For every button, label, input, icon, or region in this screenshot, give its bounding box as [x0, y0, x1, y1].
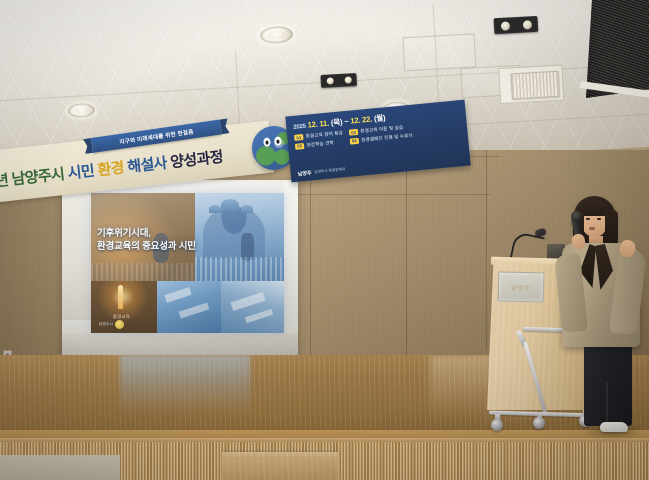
- slide-title: 기후위기시대, 환경교육의 중요성과 시민: [97, 227, 232, 254]
- organizer-name: 남양주시 환경정책과: [314, 167, 345, 175]
- banner-text-part-4: 해설사: [127, 155, 168, 176]
- projection-screen: 환경교육 기후위기시대, 환경교육의 중요성과 시민 남양주시: [62, 180, 298, 355]
- schedule-item: 02 현장학습 견학: [295, 139, 344, 150]
- schedule-item-text: 환경캠페인 진행 및 수료식: [361, 133, 413, 144]
- caster-wheel: [491, 419, 503, 431]
- schedule-date-end-day: (월): [374, 113, 386, 123]
- schedule-item-text: 현장학습 견학: [306, 140, 334, 149]
- schedule-year: 2025: [293, 124, 306, 131]
- schedule-banner-footer: 남양주 남양주시 환경정책과: [297, 166, 345, 177]
- globe-eye-left: [263, 137, 271, 147]
- ice-shard: [179, 303, 210, 319]
- lectern-plaque: 남양주: [498, 271, 545, 302]
- slide-title-line-2: 환경교육의 중요성과 시민: [97, 240, 232, 253]
- ice-shard: [245, 309, 273, 323]
- presenter-eye-left: [586, 218, 590, 220]
- slide-image-glacier: [157, 281, 221, 333]
- water-texture: [91, 263, 195, 281]
- slide-image-iceberg: [221, 281, 284, 333]
- wooden-step-box: [222, 452, 338, 480]
- apron-top-rail: [0, 438, 649, 442]
- banner-text-part-1: 5년 남양주시: [0, 166, 65, 191]
- presentation-slide: 환경교육 기후위기시대, 환경교육의 중요성과 시민 남양주시: [91, 193, 284, 333]
- schedule-item-number: 03: [349, 129, 359, 136]
- ice-shard: [230, 292, 265, 311]
- step-box-grain: [222, 452, 338, 480]
- banner-text-part-3: 환경: [97, 159, 125, 179]
- microphone-capsule: [571, 211, 582, 222]
- lecture-hall-photo: 환경교육 기후위기시대, 환경교육의 중요성과 시민 남양주시 지구와: [0, 0, 649, 480]
- schedule-column-right: 03 환경교재 이론 및 실습 04 환경캠페인 진행 및 수료식: [349, 124, 413, 145]
- air-supply-grille: [511, 71, 560, 100]
- ceiling-access-hatch: [402, 33, 476, 71]
- logo-bug-icon: [115, 320, 124, 329]
- double-spotlight-icon: [320, 73, 357, 88]
- banner-text-part-2: 시민: [67, 163, 95, 183]
- presenter-mouth: [589, 227, 595, 230]
- caster-wheel: [533, 417, 545, 429]
- presenter: [556, 196, 646, 436]
- flame-column: [118, 285, 123, 309]
- schedule-date-tilde: ~: [344, 117, 349, 126]
- banner-text-part-5: 양성과정: [169, 149, 223, 172]
- basilica-dome: [241, 205, 253, 213]
- schedule-date-start: 12. 11.: [307, 119, 329, 130]
- basilica-dome: [221, 199, 239, 211]
- screen-left-margin: [62, 180, 91, 320]
- globe-eye-right: [274, 136, 282, 146]
- schedule-date-end: 12. 22.: [350, 114, 373, 125]
- screen-reflection: [120, 355, 250, 415]
- slide-title-line-1: 기후위기시대,: [97, 227, 232, 240]
- basilica-dome: [209, 205, 221, 213]
- screen-right-margin: [284, 180, 298, 355]
- presenter-trousers: [584, 342, 632, 426]
- presenter-eye-right: [597, 218, 601, 220]
- schedule-column-left: 01 환경교육 참여 특강 02 현장학습 견학: [294, 130, 344, 149]
- audience-floor: [0, 455, 120, 480]
- presenter-shoe: [600, 422, 628, 432]
- schedule-date-start-day: (목): [330, 117, 342, 127]
- screen-bottom-margin: [62, 333, 298, 355]
- organizer-mark: 남양주: [297, 169, 311, 177]
- presenter-leg-seam: [606, 382, 608, 426]
- slide-logo: 남양주시: [99, 320, 124, 329]
- schedule-item-number: 01: [294, 134, 304, 141]
- schedule-item-number: 02: [295, 143, 305, 150]
- double-spotlight-icon: [494, 16, 539, 34]
- schedule-item-number: 04: [349, 138, 359, 145]
- ice-shard: [164, 287, 191, 303]
- slide-logo-text: 남양주시: [99, 322, 113, 327]
- lectern-plaque-text: 남양주: [511, 282, 531, 291]
- water-texture: [195, 257, 284, 281]
